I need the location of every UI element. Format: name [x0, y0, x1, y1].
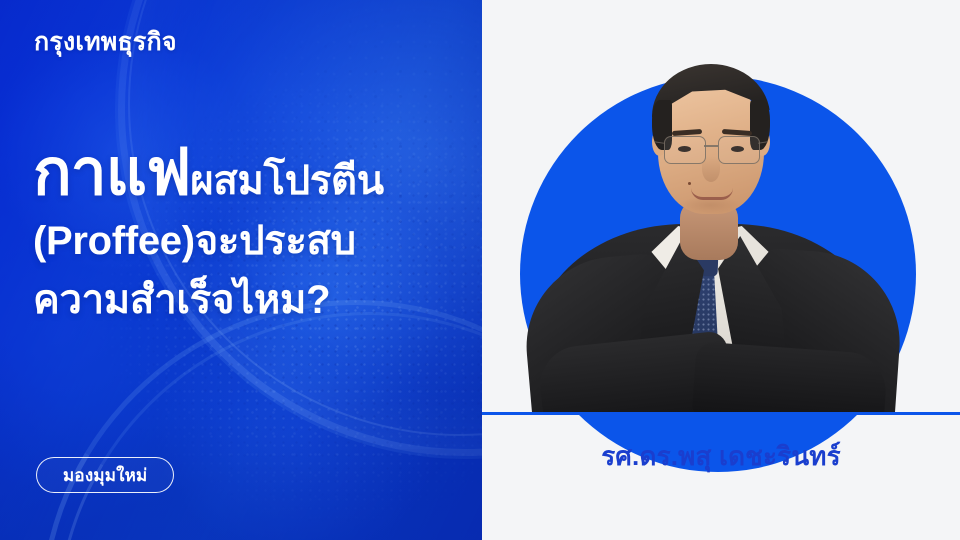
horizontal-divider [482, 412, 960, 415]
portrait-photo [482, 0, 960, 413]
headline-emphasis-word: กาแฟ [33, 136, 190, 208]
left-panel: กรุงเทพธุรกิจ กาแฟผสมโปรตีน (Proffee)จะป… [0, 0, 482, 540]
category-badge[interactable]: มองมุมใหม่ [36, 457, 174, 493]
brand-logo-text: กรุงเทพธุรกิจ [34, 30, 177, 55]
smiling-mouth-shape [691, 188, 733, 200]
headline-line-1: กาแฟผสมโปรตีน [33, 140, 465, 204]
headline: กาแฟผสมโปรตีน (Proffee)จะประสบ ความสำเร็… [33, 140, 465, 320]
speaker-name-label: รศ.ดร.พสุ เดชะรินทร์ [482, 436, 960, 477]
headline-line-2: (Proffee)จะประสบ [33, 221, 465, 261]
facial-mole [688, 182, 691, 185]
article-card: กรุงเทพธุรกิจ กาแฟผสมโปรตีน (Proffee)จะป… [0, 0, 960, 540]
right-panel: รศ.ดร.พสุ เดชะรินทร์ [482, 0, 960, 540]
headline-line-1-rest: ผสมโปรตีน [190, 159, 384, 203]
speaker-portrait-figure [482, 0, 960, 413]
eyeglass-lens-left [664, 136, 706, 164]
eyeglass-bridge [704, 145, 718, 147]
headline-line-3: ความสำเร็จไหม? [33, 280, 465, 320]
nose-shape [702, 156, 720, 182]
eyeglass-lens-right [718, 136, 760, 164]
